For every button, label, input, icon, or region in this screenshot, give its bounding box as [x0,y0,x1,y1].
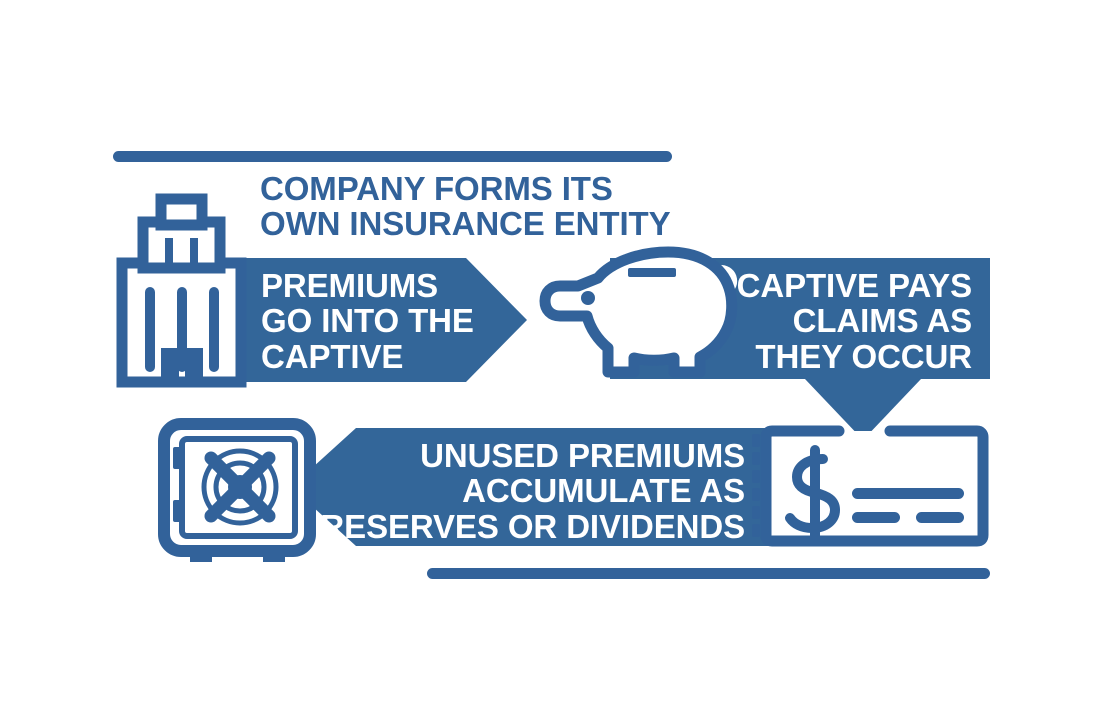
office-building-icon [122,199,241,382]
vault-safe-icon [164,424,310,562]
banner-unused-premiums [291,428,770,546]
piggy-bank-icon [545,252,733,372]
diagram-artwork [0,0,1103,719]
bank-check-icon [752,431,983,541]
top-divider-rule [113,151,672,162]
piggy-eye [581,291,595,305]
bottom-divider-rule [427,568,990,579]
captive-insurance-infographic: COMPANY FORMS ITS OWN INSURANCE ENTITY P… [0,0,1103,719]
coin-slot [628,268,676,277]
